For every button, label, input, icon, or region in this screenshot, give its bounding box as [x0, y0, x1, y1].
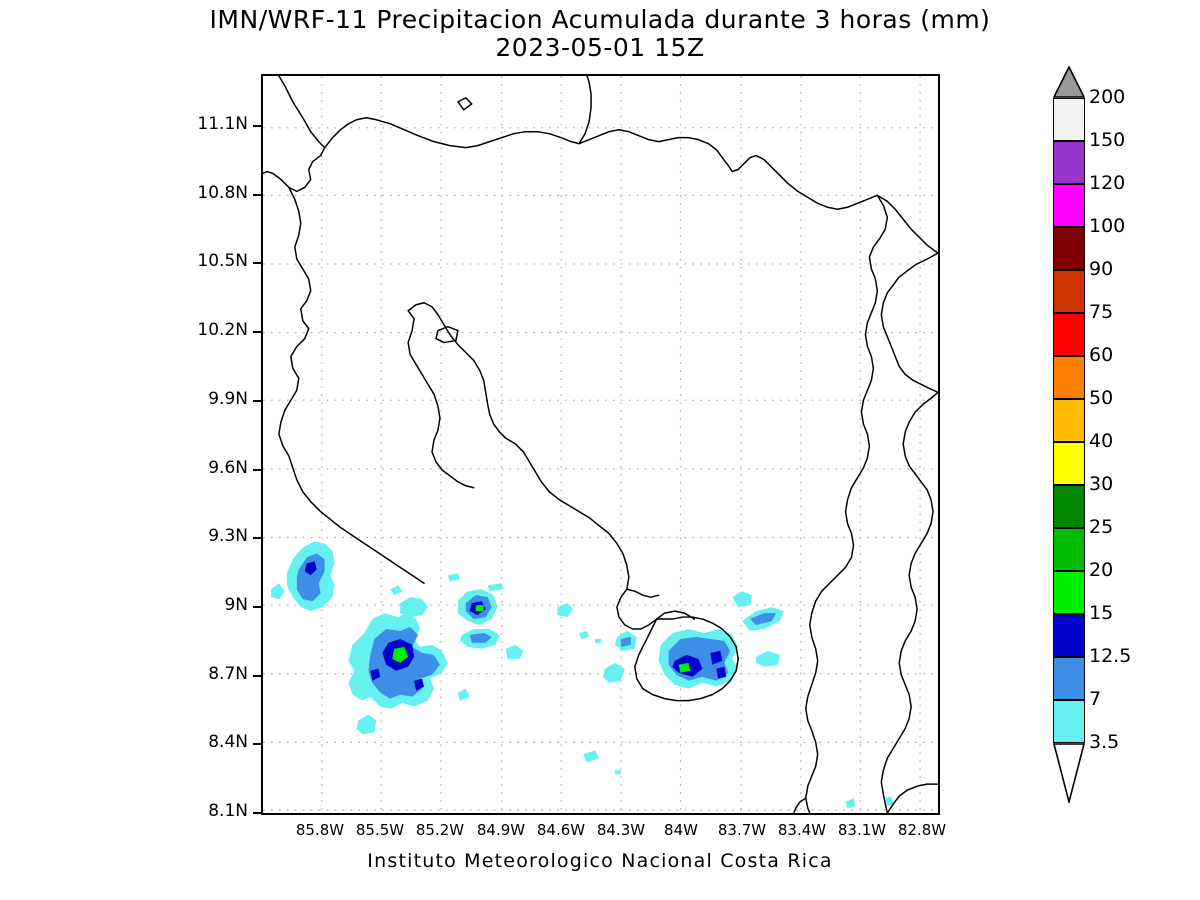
y-tick-label: 8.4N	[148, 734, 248, 751]
colorbar-swatch[interactable]	[1053, 184, 1085, 227]
y-tick-mark	[253, 331, 261, 333]
y-tick-label: 9N	[148, 597, 248, 614]
colorbar-swatch[interactable]	[1053, 485, 1085, 528]
y-tick-label: 10.5N	[148, 253, 248, 270]
y-tick-mark	[253, 675, 261, 677]
y-tick-mark	[253, 743, 261, 745]
y-tick-mark	[253, 262, 261, 264]
y-tick-label: 9.3N	[148, 528, 248, 545]
y-tick-mark	[253, 469, 261, 471]
x-tick-label: 82.8W	[882, 823, 962, 838]
colorbar-swatch[interactable]	[1053, 399, 1085, 442]
y-tick-label: 9.6N	[148, 460, 248, 477]
colorbar-label: 3.5	[1089, 733, 1119, 752]
y-tick-label: 9.9N	[148, 391, 248, 408]
colorbar-swatch[interactable]	[1053, 657, 1085, 700]
colorbar-swatch[interactable]	[1053, 141, 1085, 184]
colorbar-label: 20	[1089, 561, 1113, 580]
colorbar-label: 12.5	[1089, 647, 1131, 666]
coastline-overlay	[263, 76, 938, 813]
colorbar-swatch[interactable]	[1053, 614, 1085, 657]
chart-title-block: IMN/WRF-11 Precipitacion Acumulada duran…	[0, 6, 1200, 62]
colorbar-label: 7	[1089, 690, 1101, 709]
chart-subtitle: 2023-05-01 15Z	[0, 34, 1200, 62]
colorbar-swatch[interactable]	[1053, 313, 1085, 356]
colorbar-arrow-top-icon	[1053, 66, 1085, 98]
colorbar-label: 40	[1089, 432, 1113, 451]
colorbar-label: 90	[1089, 260, 1113, 279]
map-plot-area[interactable]	[261, 74, 940, 815]
colorbar-label: 50	[1089, 389, 1113, 408]
colorbar-swatch[interactable]	[1053, 98, 1085, 141]
colorbar-swatch[interactable]	[1053, 571, 1085, 614]
colorbar-legend[interactable]: 200 150 120 100 90 75 60 50 40 30 25 20 …	[1053, 96, 1085, 811]
colorbar-label: 150	[1089, 131, 1125, 150]
colorbar-swatch[interactable]	[1053, 442, 1085, 485]
colorbar-label: 200	[1089, 88, 1125, 107]
y-tick-mark	[253, 537, 261, 539]
colorbar-label: 120	[1089, 174, 1125, 193]
colorbar-label: 100	[1089, 217, 1125, 236]
colorbar-label: 30	[1089, 475, 1113, 494]
colorbar-label: 25	[1089, 518, 1113, 537]
y-tick-mark	[253, 125, 261, 127]
y-tick-mark	[253, 400, 261, 402]
colorbar-swatch[interactable]	[1053, 227, 1085, 270]
y-tick-label: 8.1N	[148, 803, 248, 820]
y-tick-label: 8.7N	[148, 666, 248, 683]
y-tick-mark	[253, 606, 261, 608]
y-tick-mark	[253, 812, 261, 814]
y-tick-label: 10.2N	[148, 322, 248, 339]
y-tick-label: 10.8N	[148, 185, 248, 202]
colorbar-swatch[interactable]	[1053, 528, 1085, 571]
colorbar-label: 15	[1089, 604, 1113, 623]
colorbar-swatch[interactable]	[1053, 270, 1085, 313]
colorbar-swatch[interactable]	[1053, 700, 1085, 743]
page-title: IMN/WRF-11 Precipitacion Acumulada duran…	[0, 6, 1200, 34]
colorbar-label: 60	[1089, 346, 1113, 365]
source-attribution: Instituto Meteorologico Nacional Costa R…	[0, 850, 1200, 872]
colorbar-swatch[interactable]	[1053, 356, 1085, 399]
y-tick-label: 11.1N	[148, 116, 248, 133]
colorbar-arrow-bottom-icon	[1053, 743, 1085, 803]
y-tick-mark	[253, 194, 261, 196]
colorbar-label: 75	[1089, 303, 1113, 322]
